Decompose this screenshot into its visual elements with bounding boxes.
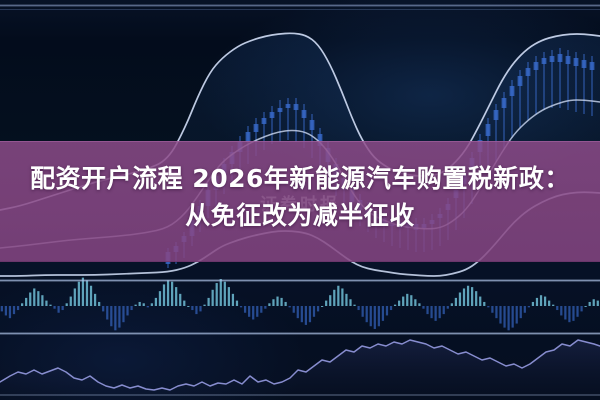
panel-divider-lower [0, 332, 600, 335]
page-title-line-1: 配资开户流程 2026年新能源汽车购置税新政： [0, 160, 600, 197]
page-title-line-2: 从免征改为减半征收 [0, 197, 600, 234]
panel-divider-bottom [0, 394, 600, 396]
top-divider-rule [0, 4, 600, 7]
panel-divider-upper [0, 279, 600, 282]
title-banner-bottom-edge [0, 261, 600, 262]
title-banner-top-edge [0, 141, 600, 142]
page-title: 配资开户流程 2026年新能源汽车购置税新政： 从免征改为减半征收 [0, 160, 600, 234]
promo-banner-image: 证券时报 配资开户流程 2026年新能源汽车购置税新政： 从免征改为减半征收 [0, 0, 600, 400]
top-divider-rule-secondary [0, 9, 600, 10]
